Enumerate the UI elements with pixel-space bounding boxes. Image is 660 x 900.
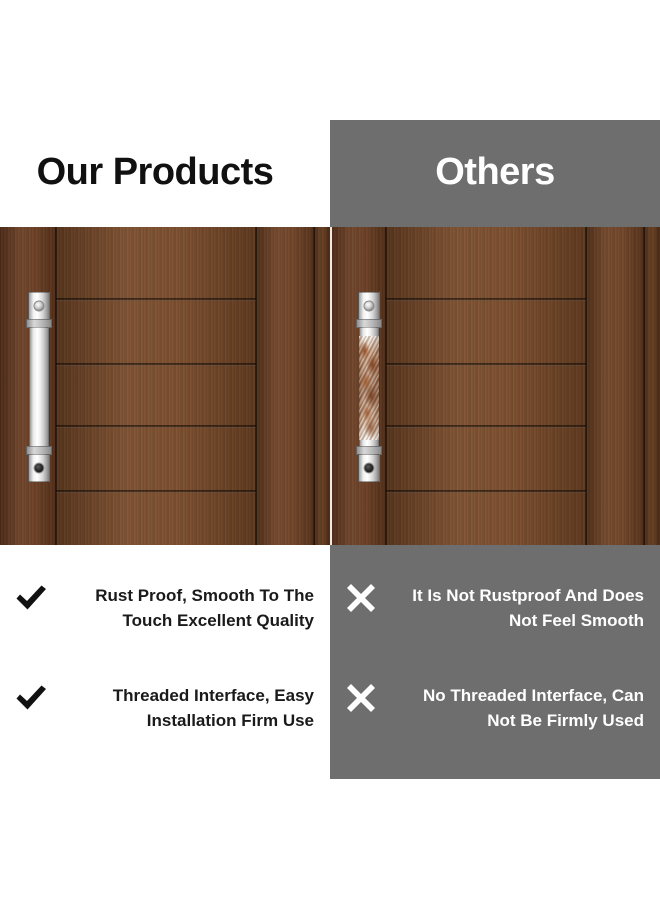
- product-photo-strip: [0, 227, 660, 545]
- check-icon: [14, 581, 48, 615]
- screw-icon: [34, 301, 45, 312]
- door-stile-far-right: [644, 227, 660, 545]
- feature-line: Not Be Firmly Used: [386, 708, 644, 733]
- feature-item: No Threaded Interface, Can Not Be Firmly…: [330, 665, 660, 765]
- door-groove: [56, 425, 256, 428]
- door-groove: [386, 363, 586, 366]
- door-groove: [386, 298, 586, 301]
- cross-icon: [344, 681, 378, 715]
- feature-line: No Threaded Interface, Can: [386, 683, 644, 708]
- door-groove: [56, 490, 256, 493]
- feature-line: Not Feel Smooth: [386, 608, 644, 633]
- door-groove: [56, 298, 256, 301]
- feature-text: No Threaded Interface, Can Not Be Firmly…: [386, 683, 644, 733]
- door-seam: [585, 227, 587, 545]
- door-center-panel-left: [56, 227, 256, 545]
- door-photo-ours: [0, 227, 330, 545]
- handle-top-plate: [358, 292, 380, 320]
- rust-corrosion-patch: [359, 336, 379, 440]
- door-stile-far-left: [314, 227, 330, 545]
- feature-text: Threaded Interface, Easy Installation Fi…: [56, 683, 314, 733]
- door-seam: [643, 227, 645, 545]
- cross-icon: [344, 581, 378, 615]
- door-center-panel-right: [386, 227, 586, 545]
- screw-icon: [364, 301, 375, 312]
- door-groove: [386, 490, 586, 493]
- heading-others: Others: [330, 120, 660, 225]
- feature-line: It Is Not Rustproof And Does: [386, 583, 644, 608]
- door-stile-right-left: [256, 227, 314, 545]
- door-seam: [385, 227, 387, 545]
- door-groove: [56, 363, 256, 366]
- feature-line: Installation Firm Use: [56, 708, 314, 733]
- feature-list-ours: Rust Proof, Smooth To The Touch Excellen…: [0, 565, 330, 765]
- door-seam: [255, 227, 257, 545]
- feature-item: It Is Not Rustproof And Does Not Feel Sm…: [330, 565, 660, 665]
- handle-bottom-plate: [28, 454, 50, 482]
- door-handle-others: [358, 292, 380, 482]
- door-photo-others: [330, 227, 660, 545]
- feature-list-others: It Is Not Rustproof And Does Not Feel Sm…: [330, 565, 660, 765]
- handle-grip-bar: [29, 327, 49, 447]
- feature-item: Rust Proof, Smooth To The Touch Excellen…: [0, 565, 330, 665]
- check-icon: [14, 681, 48, 715]
- handle-bottom-plate: [358, 454, 380, 482]
- heading-row: Our Products Others: [0, 120, 660, 225]
- comparison-infographic: Our Products Others: [0, 0, 660, 900]
- screw-icon: [364, 463, 375, 474]
- heading-our-products: Our Products: [0, 120, 330, 225]
- feature-line: Rust Proof, Smooth To The: [56, 583, 314, 608]
- door-groove: [386, 425, 586, 428]
- feature-item: Threaded Interface, Easy Installation Fi…: [0, 665, 330, 765]
- handle-top-plate: [28, 292, 50, 320]
- feature-line: Threaded Interface, Easy: [56, 683, 314, 708]
- door-stile-right-right: [586, 227, 644, 545]
- feature-line: Touch Excellent Quality: [56, 608, 314, 633]
- feature-text: Rust Proof, Smooth To The Touch Excellen…: [56, 583, 314, 633]
- screw-icon: [34, 463, 45, 474]
- door-seam: [313, 227, 315, 545]
- door-seam: [55, 227, 57, 545]
- feature-text: It Is Not Rustproof And Does Not Feel Sm…: [386, 583, 644, 633]
- door-handle-ours: [28, 292, 50, 482]
